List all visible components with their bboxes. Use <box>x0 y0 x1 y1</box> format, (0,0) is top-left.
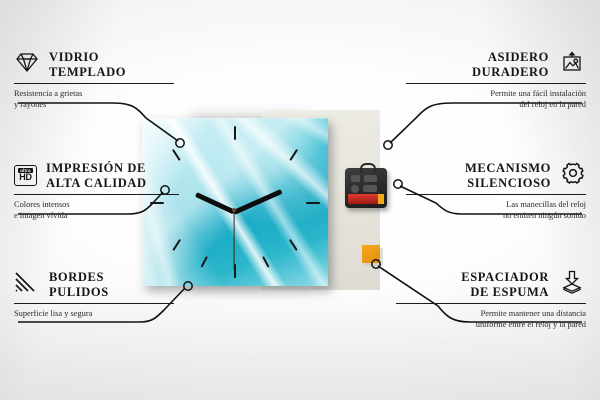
movement-detail <box>364 175 377 182</box>
feature-rule <box>396 303 586 304</box>
feature-subtitle: Permite una fácil instalación del reloj … <box>406 89 586 110</box>
feature-title: ESPACIADOR DE ESPUMA <box>461 270 549 299</box>
clock-tick <box>200 256 207 267</box>
clock-battery <box>348 194 384 204</box>
movement-detail <box>363 185 377 192</box>
feature-mecanismo-silencioso: MECANISMO SILENCIOSO Las manecillas del … <box>406 161 586 221</box>
clock-tick <box>172 149 180 161</box>
feature-bordes-pulidos: BORDES PULIDOS Superficie lisa y segura <box>14 270 174 320</box>
gear-icon <box>560 161 586 190</box>
feature-title: BORDES PULIDOS <box>49 270 109 299</box>
leader-endpoint-asidero <box>384 141 392 149</box>
feature-title: ASIDERO DURADERO <box>472 50 549 79</box>
foam-spacer-part <box>362 245 380 263</box>
infographic-canvas: VIDRIO TEMPLADO Resistencia a grietas y … <box>0 0 600 400</box>
feature-subtitle: Resistencia a grietas y rayones <box>14 89 174 110</box>
feature-rule <box>406 194 586 195</box>
feature-title: IMPRESIÓN DE ALTA CALIDAD <box>46 161 147 190</box>
clock-tick <box>234 264 236 278</box>
feature-title: VIDRIO TEMPLADO <box>49 50 126 79</box>
feature-rule <box>14 303 174 304</box>
clock-tick <box>234 126 236 140</box>
feature-subtitle: Las manecillas del reloj no emiten ningú… <box>406 200 586 221</box>
feature-vidrio-templado: VIDRIO TEMPLADO Resistencia a grietas y … <box>14 50 174 110</box>
clock-second-hand <box>233 212 234 270</box>
feature-rule <box>406 83 586 84</box>
clock-tick <box>306 202 320 204</box>
polished-edges-icon <box>14 271 40 298</box>
feature-impresion-alta-calidad: ultra HD IMPRESIÓN DE ALTA CALIDAD Color… <box>14 161 179 221</box>
ultra-hd-icon-main-text: HD <box>19 173 32 183</box>
clock-center-pin <box>232 208 236 212</box>
clock-hour-hand <box>195 192 235 214</box>
hanging-frame-icon <box>558 50 586 79</box>
clock-minute-hand <box>233 189 282 214</box>
ultra-hd-icon: ultra HD <box>14 165 37 186</box>
movement-detail <box>351 185 359 193</box>
movement-detail <box>351 175 360 182</box>
diamond-icon <box>14 51 40 78</box>
movement-hook <box>360 163 376 173</box>
clock-tick <box>289 239 297 251</box>
clock-movement <box>345 168 387 208</box>
feature-subtitle: Superficie lisa y segura <box>14 309 174 319</box>
feature-espaciador-de-espuma: ESPACIADOR DE ESPUMA Permite mantener un… <box>396 270 586 330</box>
leader-endpoint-mecanismo <box>394 180 402 188</box>
clock-tick <box>289 149 297 161</box>
feature-subtitle: Permite mantener una distancia uniforme … <box>396 309 586 330</box>
feature-rule <box>14 194 179 195</box>
feature-rule <box>14 83 174 84</box>
feature-asidero-duradero: ASIDERO DURADERO Permite una fácil insta… <box>406 50 586 110</box>
clock-tick <box>172 239 180 251</box>
feature-subtitle: Colores intensos e imagen vívida <box>14 200 179 221</box>
foam-spacer-icon <box>558 270 586 299</box>
clock-tick <box>262 256 269 267</box>
feature-title: MECANISMO SILENCIOSO <box>465 161 551 190</box>
